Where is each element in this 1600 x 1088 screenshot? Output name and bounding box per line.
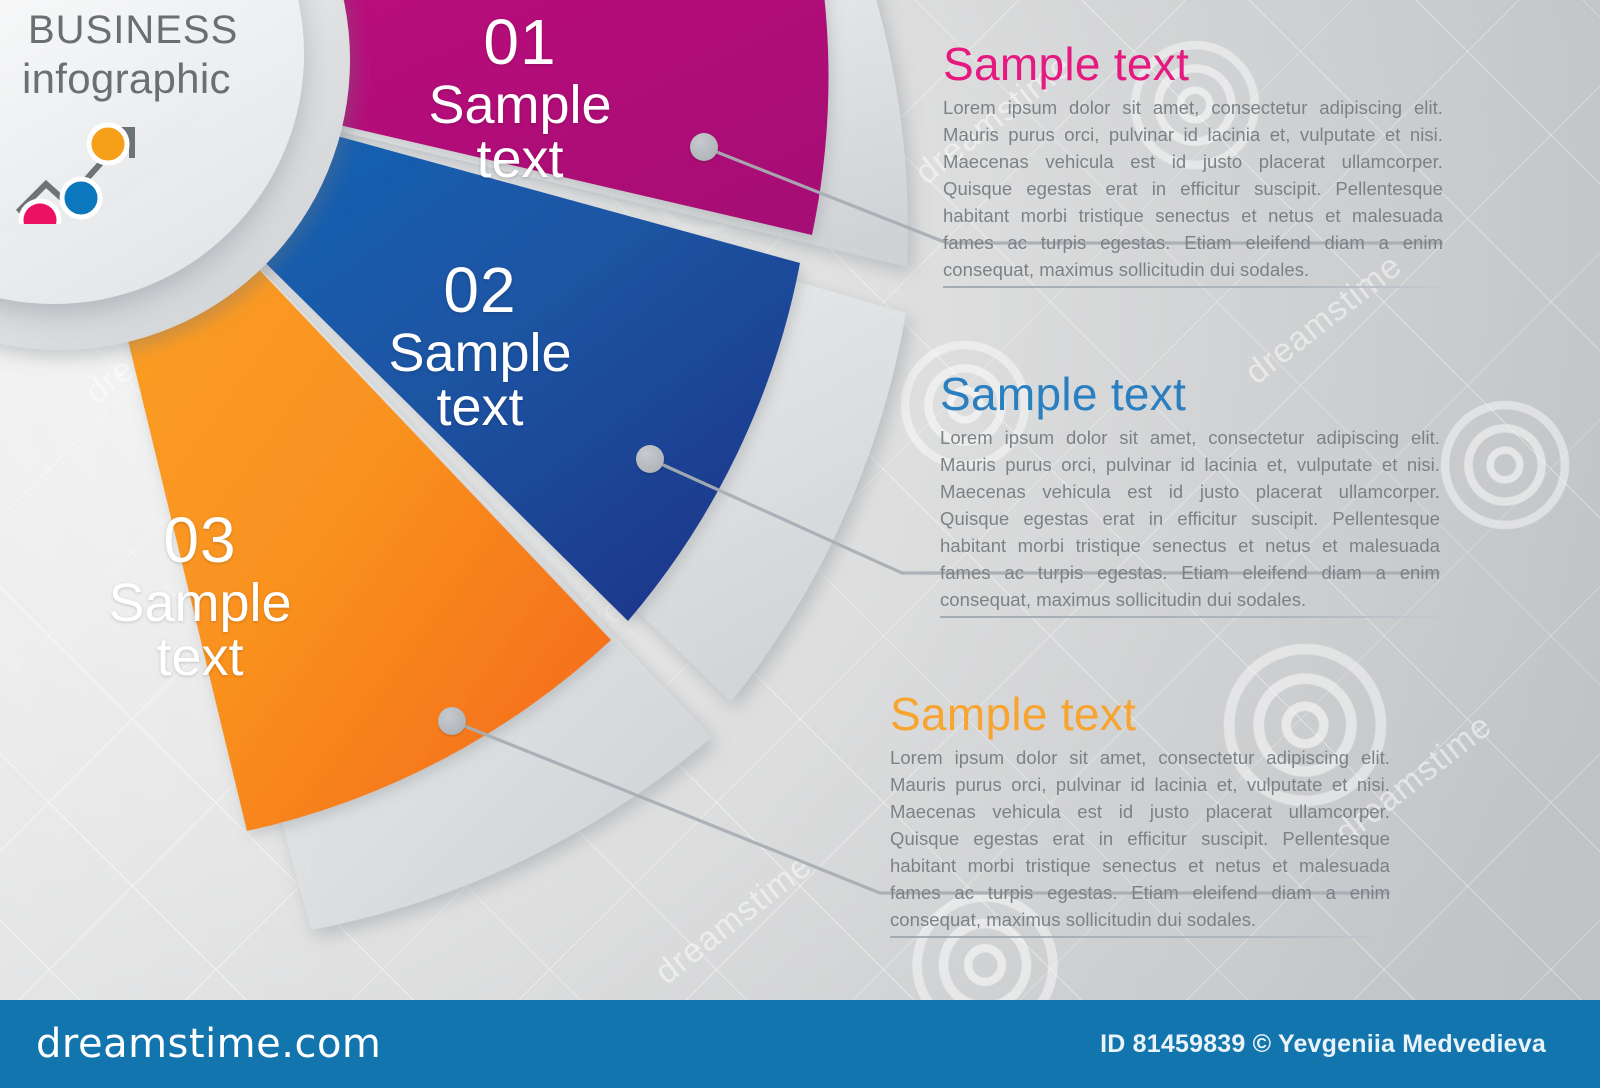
info-heading-1: Sample text: [943, 40, 1443, 88]
info-underline-3: [890, 936, 1390, 938]
logo-title-line1: BUSINESS: [28, 8, 238, 53]
infographic-canvas: dreamstime dreamstime dreamstime dreamst…: [0, 0, 1600, 1088]
connector-dot-1[interactable]: [690, 133, 718, 161]
dreamstime-logo[interactable]: dreamstime.com: [36, 1021, 381, 1067]
info-block-3: Sample text Lorem ipsum dolor sit amet, …: [890, 690, 1390, 938]
info-body-1: Lorem ipsum dolor sit amet, consectetur …: [943, 94, 1443, 283]
info-heading-2: Sample text: [940, 370, 1440, 418]
growth-chart-arrow-icon: [8, 104, 228, 224]
connector-dot-2[interactable]: [636, 445, 664, 473]
info-body-3: Lorem ipsum dolor sit amet, consectetur …: [890, 744, 1390, 933]
spiral-watermark-icon: [1430, 390, 1580, 540]
connector-dot-3[interactable]: [438, 707, 466, 735]
info-block-2: Sample text Lorem ipsum dolor sit amet, …: [940, 370, 1440, 618]
image-credit: ID 81459839 © Yevgeniia Medvedieva: [1100, 1030, 1546, 1059]
info-block-1: Sample text Lorem ipsum dolor sit amet, …: [943, 40, 1443, 288]
chart-dot-pink: [21, 201, 59, 224]
chart-dot-blue: [62, 179, 100, 217]
logo-title-line2: infographic: [22, 55, 231, 103]
footer-bar: dreamstime.com ID 81459839 © Yevgeniia M…: [0, 1000, 1600, 1088]
info-body-2: Lorem ipsum dolor sit amet, consectetur …: [940, 424, 1440, 613]
info-underline-2: [940, 616, 1440, 618]
info-underline-1: [943, 286, 1443, 288]
chart-dot-orange: [89, 125, 127, 163]
info-heading-3: Sample text: [890, 690, 1390, 738]
